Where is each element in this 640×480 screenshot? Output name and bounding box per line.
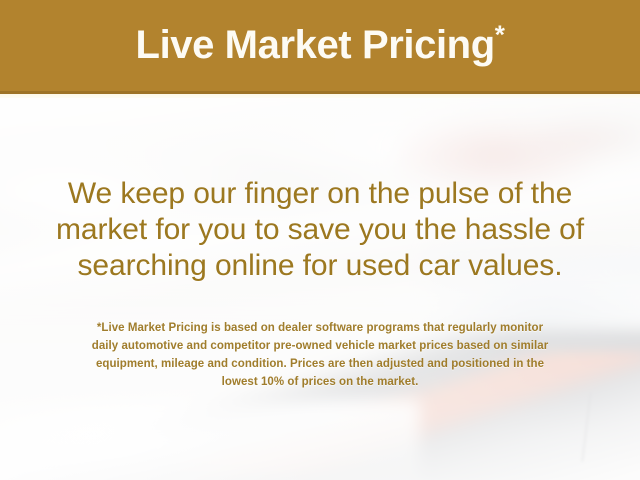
headline-line-1: We keep our finger on the pulse of the <box>0 176 640 212</box>
banner-underline <box>0 94 640 98</box>
live-market-pricing-slide: Live Market Pricing* We keep our finger … <box>0 0 640 480</box>
headline-line-3: searching online for used car values. <box>0 248 640 284</box>
disclaimer-line-2: daily automotive and competitor pre-owne… <box>0 337 640 355</box>
disclaimer-line-3: equipment, mileage and condition. Prices… <box>0 355 640 373</box>
title-asterisk: * <box>495 19 505 49</box>
disclaimer-line-4: lowest 10% of prices on the market. <box>0 373 640 391</box>
headline-block: We keep our finger on the pulse of the m… <box>0 176 640 284</box>
disclaimer-line-1: *Live Market Pricing is based on dealer … <box>0 319 640 337</box>
header-banner: Live Market Pricing* <box>0 0 640 94</box>
page-title: Live Market Pricing* <box>136 25 505 67</box>
headline-line-2: market for you to save you the hassle of <box>0 212 640 248</box>
disclaimer-block: *Live Market Pricing is based on dealer … <box>0 319 640 391</box>
page-title-text: Live Market Pricing <box>136 23 495 67</box>
